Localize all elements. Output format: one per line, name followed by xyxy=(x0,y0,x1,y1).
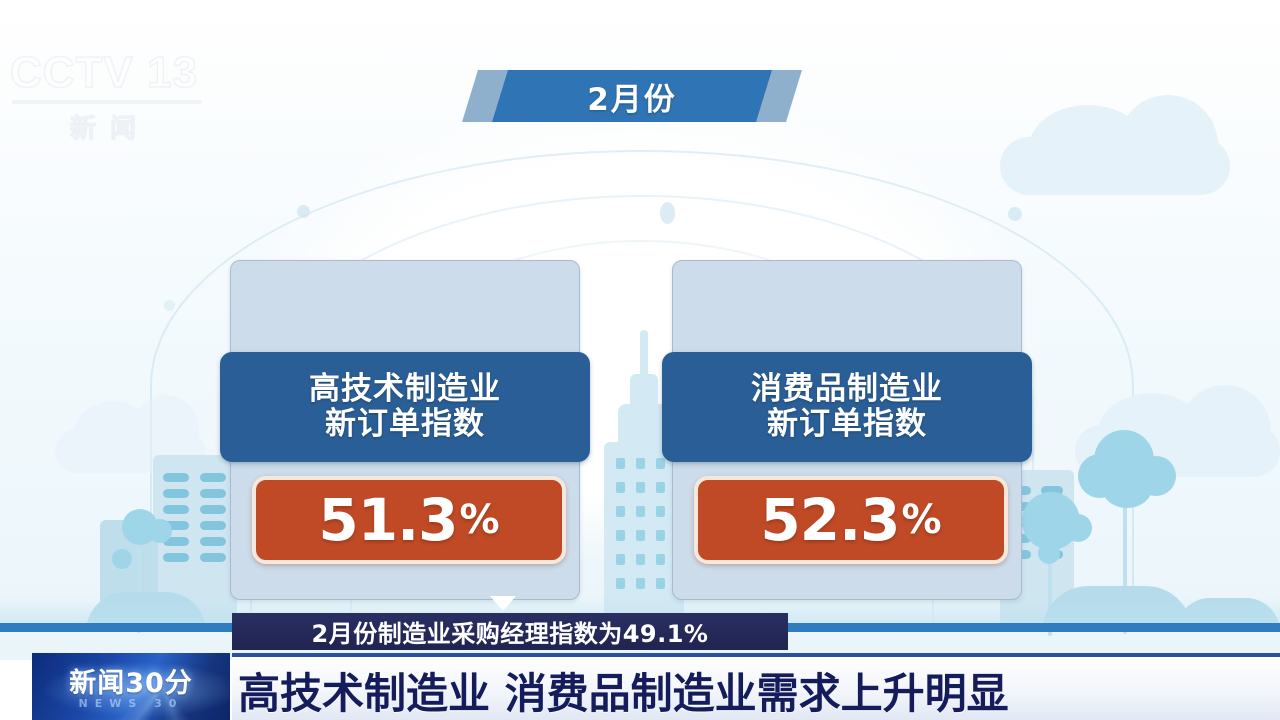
card-value-unit: % xyxy=(460,500,500,540)
decor-dot-1 xyxy=(297,205,310,218)
subtitle-text: 2月份制造业采购经理指数为49.1% xyxy=(312,614,709,649)
stat-card-high-tech: 高技术制造业 新订单指数 51.3 % xyxy=(230,260,580,600)
card-value-number: 51.3 xyxy=(318,491,457,549)
banner-label: 2月份 xyxy=(587,74,677,119)
decor-dot-2 xyxy=(660,202,675,224)
stat-card-consumer-goods: 消费品制造业 新订单指数 52.3 % xyxy=(672,260,1022,600)
banner-main: 2月份 xyxy=(492,70,772,122)
decor-dot-3 xyxy=(1008,207,1022,221)
program-name: 新闻30分 xyxy=(32,661,230,700)
headline-bar: 高技术制造业 消费品制造业需求上升明显 xyxy=(232,653,1280,720)
subtitle-bar: 2月份制造业采购经理指数为49.1% xyxy=(232,613,788,650)
program-logo: 新闻30分 NEWS 30 xyxy=(32,653,230,720)
card-title-banner: 高技术制造业 新订单指数 xyxy=(220,352,590,462)
lower-third: 新闻30分 NEWS 30 高技术制造业 消费品制造业需求上升明显 xyxy=(0,650,1280,720)
decor-dot-4 xyxy=(164,300,175,311)
card-value-unit: % xyxy=(902,500,942,540)
subtitle-pointer-icon xyxy=(490,596,516,611)
broadcast-screen: CCTV 13 新闻 2月份 高技术制造业 新订单指数 51.3 % 消费品制造… xyxy=(0,0,1280,720)
card-value-number: 52.3 xyxy=(760,491,899,549)
card-title-banner: 消费品制造业 新订单指数 xyxy=(662,352,1032,462)
program-name-latin: NEWS 30 xyxy=(32,697,230,710)
card-title-line1: 消费品制造业 xyxy=(751,372,943,407)
card-title-line2: 新订单指数 xyxy=(767,407,927,442)
headline-text: 高技术制造业 消费品制造业需求上升明显 xyxy=(232,660,1009,720)
card-title-line1: 高技术制造业 xyxy=(309,372,501,407)
month-banner: 2月份 xyxy=(462,70,802,122)
card-value-box: 51.3 % xyxy=(252,476,566,564)
card-value-box: 52.3 % xyxy=(694,476,1008,564)
card-title-line2: 新订单指数 xyxy=(325,407,485,442)
